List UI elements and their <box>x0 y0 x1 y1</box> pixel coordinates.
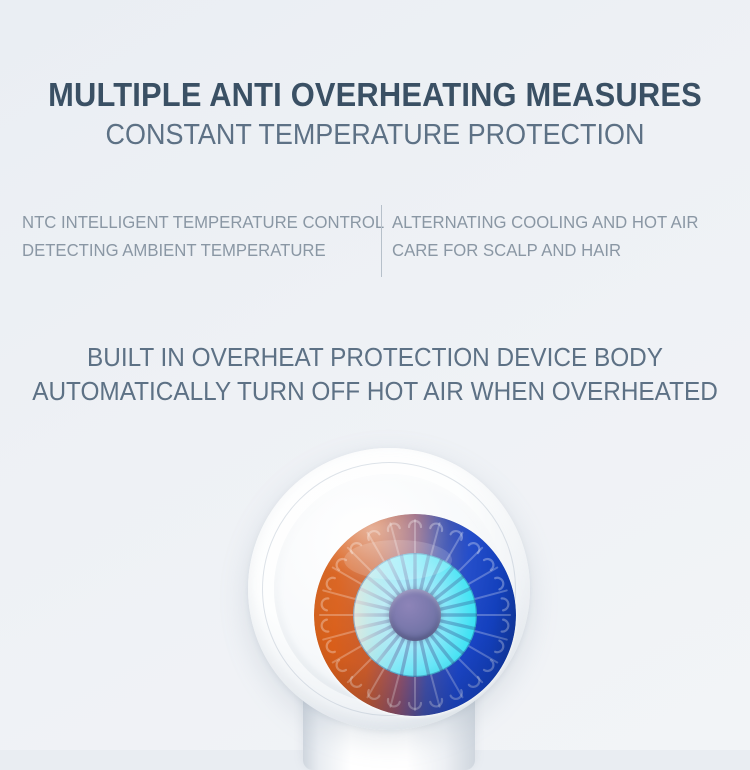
head-inner-bezel <box>274 474 504 704</box>
feature-left-line-2: DETECTING AMBIENT TEMPERATURE <box>22 236 384 264</box>
grille-gradient <box>314 514 516 716</box>
fan-grille <box>314 514 516 716</box>
feature-column-left: NTC INTELLIGENT TEMPERATURE CONTROL DETE… <box>22 208 401 265</box>
statement-block: BUILT IN OVERHEAT PROTECTION DEVICE BODY… <box>0 342 750 410</box>
feature-column-right: ALTERNATING COOLING AND HOT AIR CARE FOR… <box>392 208 713 265</box>
statement-line-1: BUILT IN OVERHEAT PROTECTION DEVICE BODY <box>17 342 733 376</box>
headline-block: MULTIPLE ANTI OVERHEATING MEASURES CONST… <box>0 76 750 153</box>
grille-highlight <box>344 540 452 580</box>
fan-hub <box>389 589 441 641</box>
grille-vector <box>314 514 516 716</box>
statement-line-2: AUTOMATICALLY TURN OFF HOT AIR WHEN OVER… <box>17 376 733 410</box>
page-title: MULTIPLE ANTI OVERHEATING MEASURES <box>24 76 725 114</box>
grille-ribs <box>320 520 510 710</box>
column-divider <box>381 205 382 277</box>
fan-blades <box>351 551 479 679</box>
feature-columns: NTC INTELLIGENT TEMPERATURE CONTROL DETE… <box>0 208 750 282</box>
feature-right-line-2: CARE FOR SCALP AND HAIR <box>392 236 698 264</box>
grille-shading <box>314 514 516 716</box>
page-subtitle: CONSTANT TEMPERATURE PROTECTION <box>26 119 724 153</box>
feature-left-line-1: NTC INTELLIGENT TEMPERATURE CONTROL <box>22 208 384 236</box>
dryer-handle <box>303 660 475 770</box>
product-poster: MULTIPLE ANTI OVERHEATING MEASURES CONST… <box>0 0 750 750</box>
grille-notches <box>321 521 509 709</box>
feature-right-line-1: ALTERNATING COOLING AND HOT AIR <box>392 208 698 236</box>
glass-sheen <box>300 500 478 678</box>
dryer-head <box>248 448 530 730</box>
head-ring-line <box>262 462 516 716</box>
